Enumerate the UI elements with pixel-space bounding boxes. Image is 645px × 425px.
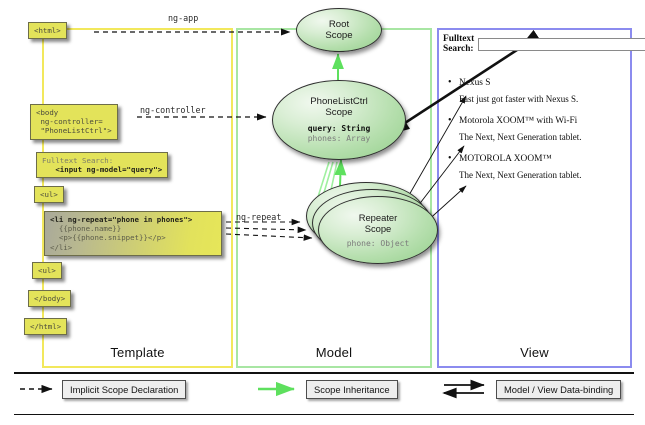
code-box-body-close: </body> — [28, 290, 71, 307]
view-phone-snippet: The Next, Next Generation tablet. — [443, 132, 625, 142]
li-repeat-line1: <li ng-repeat="phone in phones"> — [50, 215, 192, 224]
li-repeat-line4: </li> — [50, 243, 72, 252]
scope-phonelistctrl-prop-phones: phones: Array — [308, 134, 371, 144]
body-tag-line1: <body — [36, 108, 58, 117]
panel-title-view: View — [437, 345, 632, 360]
code-box-body-tag: <body ng-controller= "PhoneListCtrl"> — [30, 104, 118, 140]
legend: Implicit Scope Declaration Scope Inherit… — [14, 378, 634, 412]
scope-root-line2: Scope — [325, 30, 352, 41]
view-phone-list: Nexus S Fast just got faster with Nexus … — [443, 78, 625, 180]
code-box-search-input: Fulltext Search: <input ng-model="query"… — [36, 152, 168, 178]
li-repeat-line3: <p>{{phone.snippet}}</p> — [50, 233, 166, 242]
legend-label-implicit-scope-declaration: Implicit Scope Declaration — [62, 380, 186, 399]
view-phone-name: Motorola XOOM™ with Wi-Fi — [443, 116, 625, 126]
view-phone-snippet: Fast just got faster with Nexus S. — [443, 94, 625, 104]
edge-label-ng-controller: ng-controller — [140, 105, 206, 115]
code-box-ul-close: <ul> — [32, 262, 62, 279]
view-search-row: Fulltext Search: — [443, 34, 625, 54]
code-box-li-repeat: <li ng-repeat="phone in phones"> {{phone… — [44, 211, 222, 256]
scope-repeater: Repeater Scope phone: Object — [318, 196, 438, 264]
search-input-line: <input ng-model="query"> — [42, 165, 162, 174]
diagram-canvas: <html> <body ng-controller= "PhoneListCt… — [0, 0, 645, 425]
list-item: Nexus S Fast just got faster with Nexus … — [443, 78, 625, 104]
legend-item-scope-inheritance: Scope Inheritance — [306, 378, 398, 400]
scope-phonelistctrl-line2: Scope — [325, 107, 352, 118]
scope-root-line1: Root — [329, 19, 349, 30]
list-item: MOTOROLA XOOM™ The Next, Next Generation… — [443, 154, 625, 180]
view-rendered-page: Fulltext Search: Nexus S Fast just got f… — [443, 34, 625, 192]
code-box-html-close: </html> — [24, 318, 67, 335]
legend-item-implicit-scope-declaration: Implicit Scope Declaration — [62, 378, 186, 400]
legend-rule-bottom — [14, 414, 634, 415]
view-phone-name: MOTOROLA XOOM™ — [443, 154, 625, 164]
panel-template — [42, 28, 233, 368]
panel-title-model: Model — [236, 345, 432, 360]
edge-label-ng-app: ng-app — [168, 13, 198, 23]
view-phone-name: Nexus S — [443, 78, 625, 88]
legend-item-model-view-data-binding: Model / View Data-binding — [496, 378, 621, 400]
body-tag-line3: "PhoneListCtrl"> — [36, 126, 112, 135]
view-search-input[interactable] — [478, 38, 645, 51]
legend-rule-top — [14, 372, 634, 374]
view-phone-snippet: The Next, Next Generation tablet. — [443, 170, 625, 180]
edge-label-ng-repeat: ng-repeat — [236, 212, 281, 222]
view-search-label: Fulltext Search: — [443, 34, 474, 54]
search-label-line: Fulltext Search: — [42, 156, 113, 165]
body-tag-line2: ng-controller= — [36, 117, 103, 126]
code-box-html-tag: <html> — [28, 22, 67, 39]
scope-phonelistctrl-prop-query: query: String — [308, 124, 371, 134]
scope-repeater-prop-phone: phone: Object — [347, 239, 410, 249]
legend-label-scope-inheritance: Scope Inheritance — [306, 380, 398, 399]
legend-label-model-view-data-binding: Model / View Data-binding — [496, 380, 621, 399]
list-item: Motorola XOOM™ with Wi-Fi The Next, Next… — [443, 116, 625, 142]
panel-title-template: Template — [42, 345, 233, 360]
li-repeat-line2: {{phone.name}} — [50, 224, 121, 233]
scope-root: Root Scope — [296, 8, 382, 52]
code-box-ul-open: <ul> — [34, 186, 64, 203]
scope-repeater-line2: Scope — [365, 223, 392, 234]
scope-phonelistctrl-line1: PhoneListCtrl — [310, 96, 368, 107]
scope-phonelistctrl: PhoneListCtrl Scope query: String phones… — [272, 80, 406, 160]
scope-repeater-line1: Repeater — [359, 212, 398, 223]
